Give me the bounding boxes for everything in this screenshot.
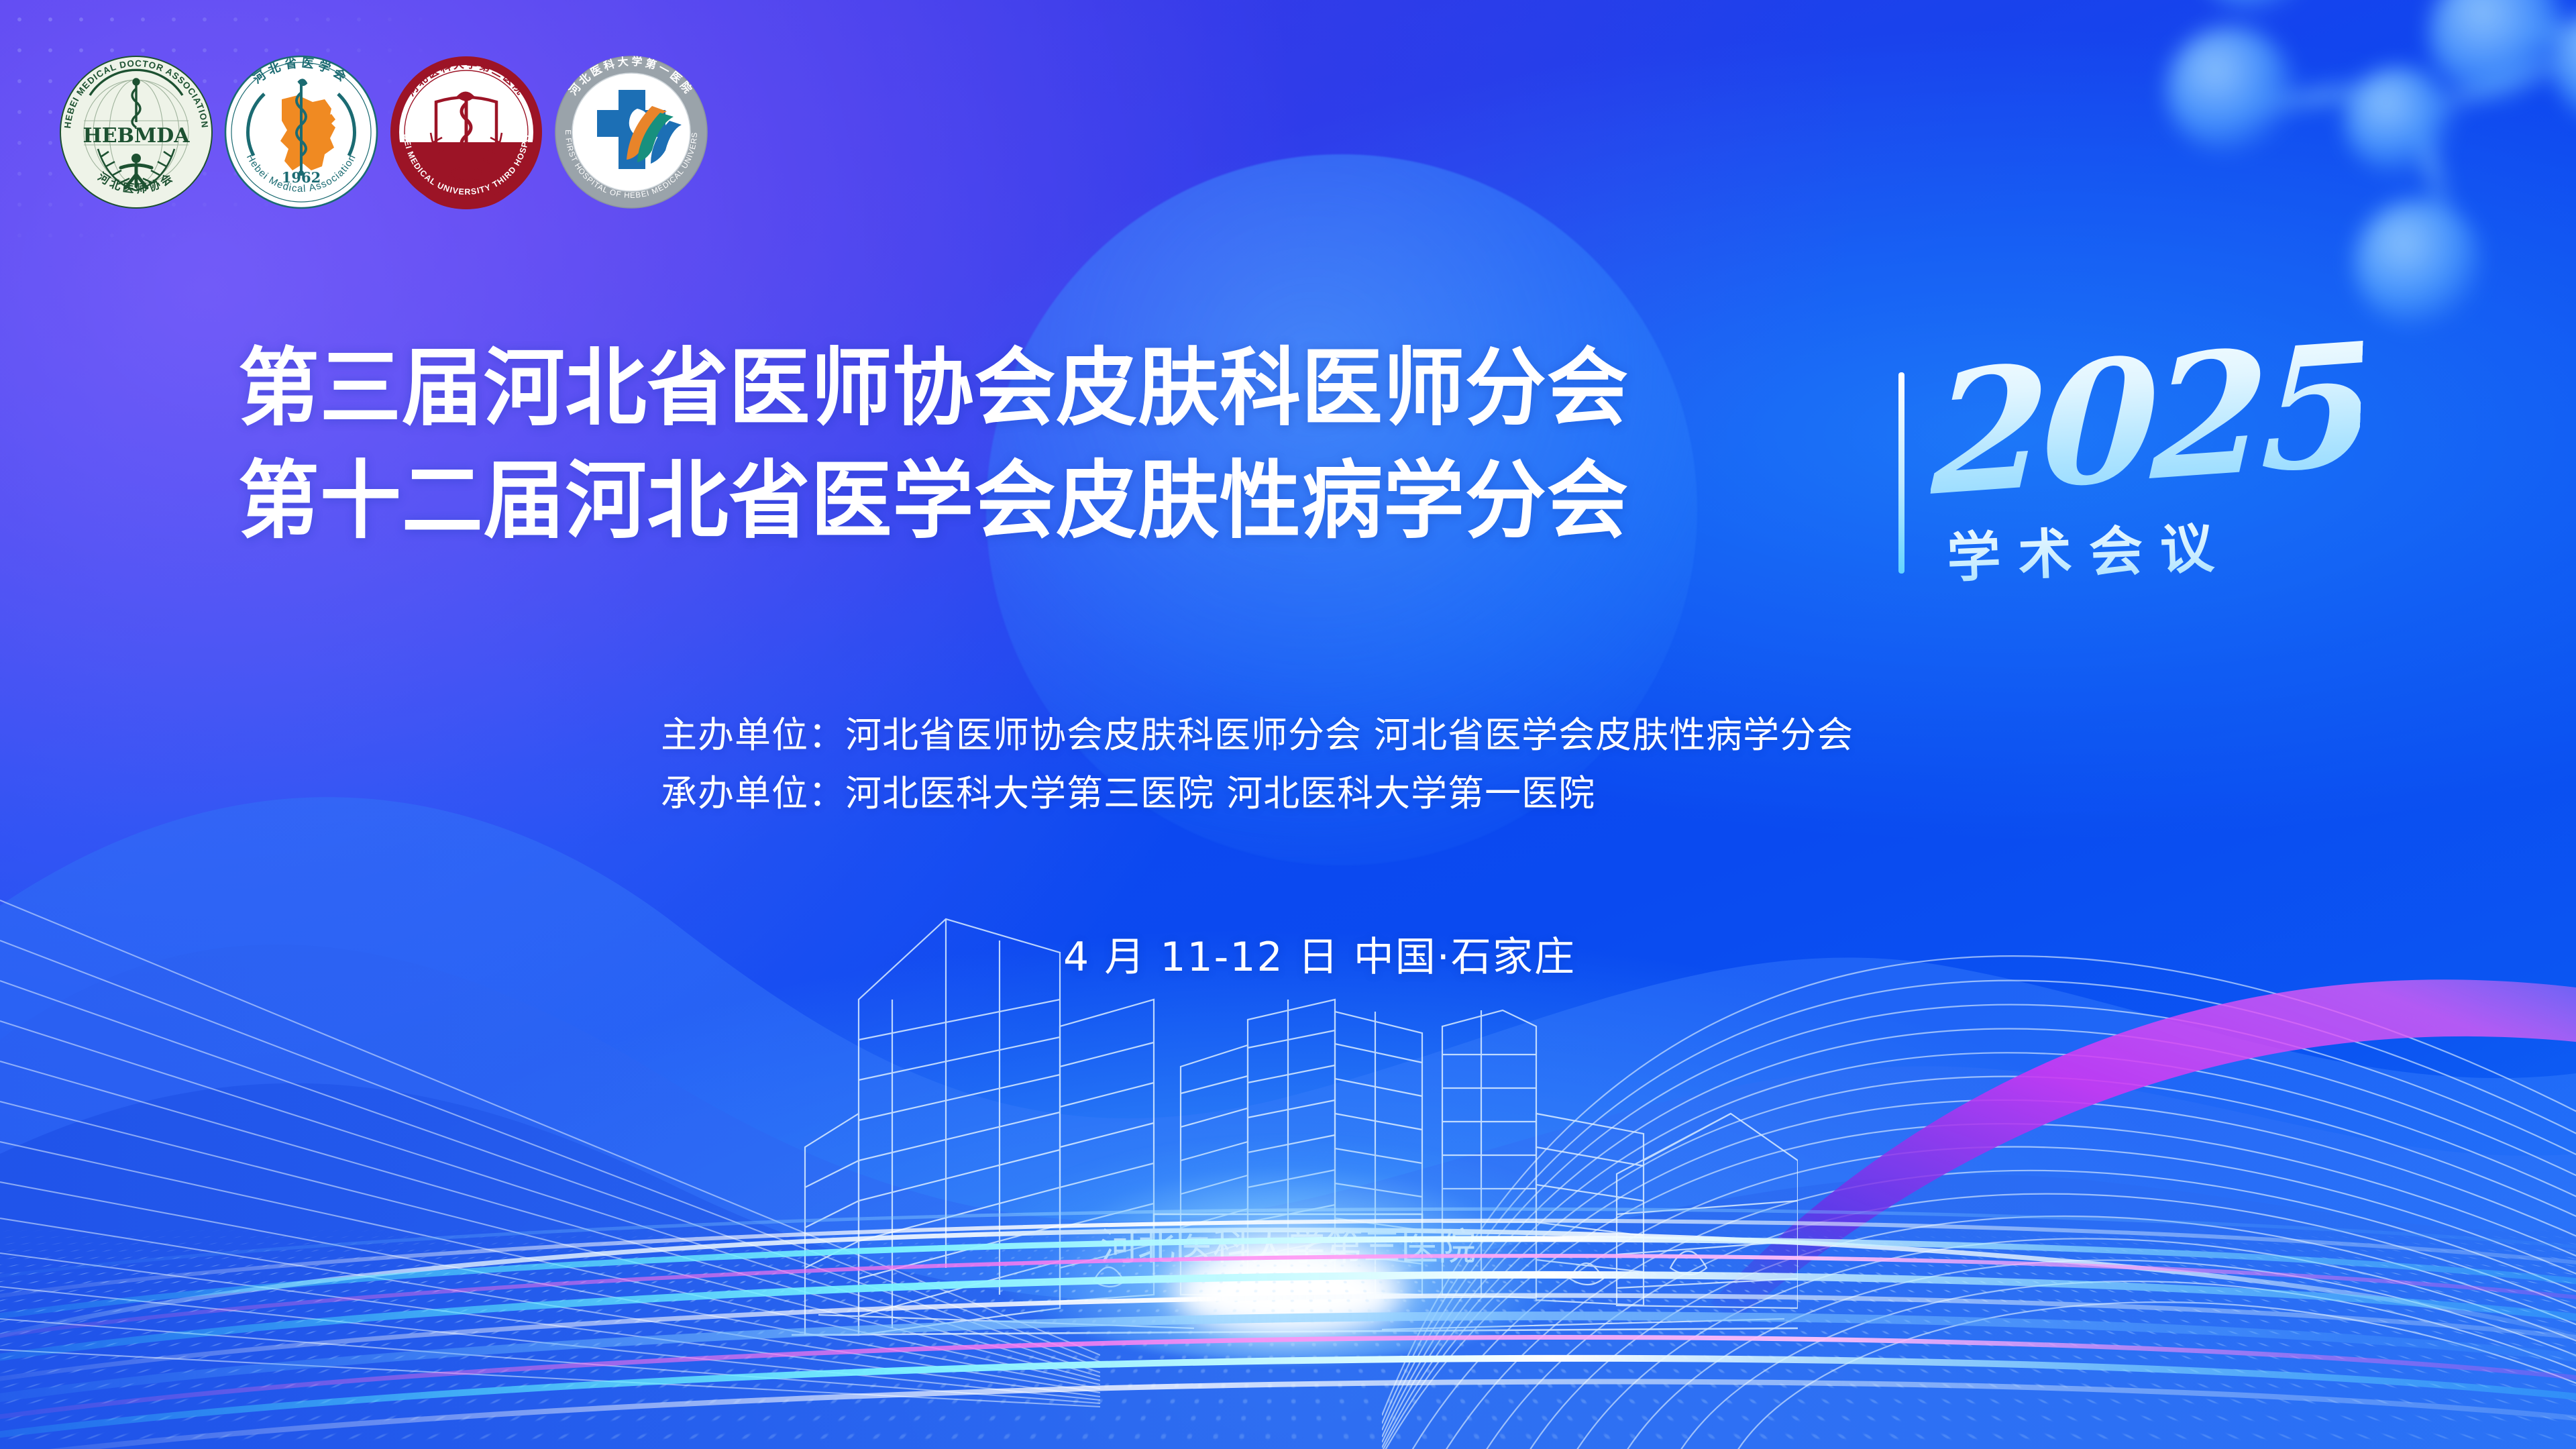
title-line-1: 第三届河北省医师协会皮肤科医师分会 bbox=[238, 332, 1803, 445]
host-line: 承办单位：河北医科大学第三医院 河北医科大学第一医院 bbox=[661, 764, 1854, 822]
logo-acronym: HEBMDA bbox=[83, 124, 190, 148]
molecule-decoration bbox=[2187, 0, 2576, 362]
conference-poster: 河北医科大学第三医院 bbox=[0, 0, 2576, 1449]
organization-logos: HEBMDA HEBEI MEDICAL DOCTOR ASSOCIATION … bbox=[59, 55, 708, 209]
conference-title: 第三届河北省医师协会皮肤科医师分会 第十二届河北省医学会皮肤性病学分会 bbox=[238, 332, 1868, 557]
year-subtitle: 学术会议 bbox=[1945, 499, 2363, 593]
year-badge: 2025 学术会议 bbox=[1932, 335, 2361, 604]
organizer-info: 主办单位：河北省医师协会皮肤科医师分会 河北省医学会皮肤性病学分会 承办单位：河… bbox=[661, 706, 1854, 823]
light-streaks-decoration bbox=[0, 1100, 2576, 1449]
logo-first-hospital-of-hebei-medical-university: 河北医科大学第一医院 THE FIRST HOSPITAL OF HEBEI M… bbox=[554, 55, 708, 209]
logo-hebei-medical-association: 1962 河北省医学会 Hebei Medical Association bbox=[224, 55, 378, 209]
logo-hebei-medical-doctor-association: HEBMDA HEBEI MEDICAL DOCTOR ASSOCIATION … bbox=[59, 55, 213, 209]
title-line-2: 第十二届河北省医学会皮肤性病学分会 bbox=[238, 445, 1803, 557]
logo-hebei-medical-university-third-hospital: –1958– 河北医科大学第三医院 HEBEI MEDICAL UNIVERSI… bbox=[389, 55, 543, 209]
title-divider bbox=[1898, 372, 1904, 574]
date-location: 4 月 11-12 日 中国·石家庄 bbox=[1063, 924, 1576, 983]
organizer-line: 主办单位：河北省医师协会皮肤科医师分会 河北省医学会皮肤性病学分会 bbox=[661, 706, 1854, 764]
year-calligraphy: 2025 bbox=[1929, 320, 2363, 519]
